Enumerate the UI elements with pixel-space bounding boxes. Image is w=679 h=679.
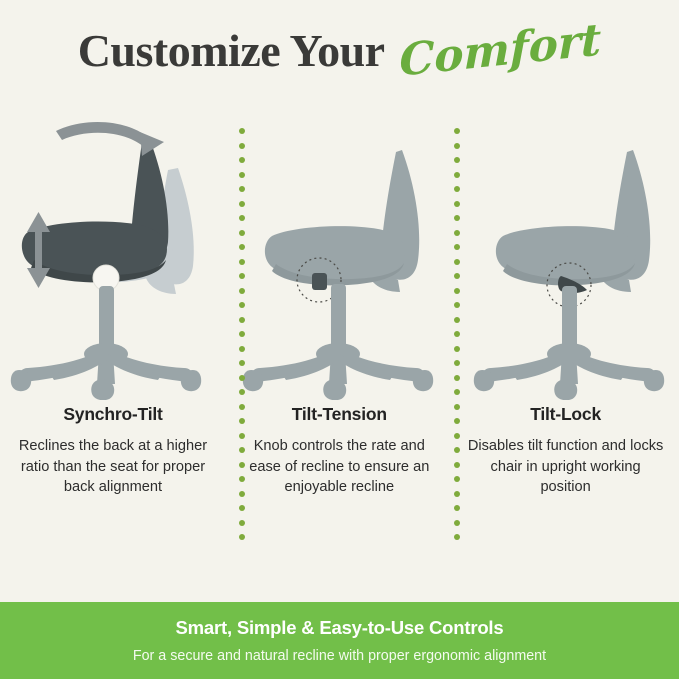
divider-dot bbox=[239, 244, 245, 250]
divider-dot bbox=[454, 433, 460, 439]
divider-dot bbox=[239, 346, 245, 352]
divider-dot bbox=[239, 157, 245, 163]
divider-dot bbox=[454, 404, 460, 410]
divider-dot bbox=[454, 186, 460, 192]
divider-dot bbox=[454, 360, 460, 366]
page-title-script: Comfort bbox=[399, 14, 601, 86]
chair-base bbox=[11, 343, 201, 400]
divider-dot bbox=[239, 172, 245, 178]
tension-knob bbox=[312, 273, 327, 290]
divider-dot bbox=[454, 259, 460, 265]
divider-dot bbox=[239, 201, 245, 207]
chair-illustration-tilt-tension bbox=[226, 108, 452, 400]
divider-dot bbox=[239, 273, 245, 279]
infographic-page: Customize Your Comfort bbox=[0, 0, 679, 679]
divider-dot bbox=[239, 375, 245, 381]
divider-dot bbox=[239, 433, 245, 439]
divider-dot bbox=[454, 520, 460, 526]
caption-body: Disables tilt function and locks chair i… bbox=[453, 436, 679, 498]
column-divider-2 bbox=[453, 128, 460, 540]
divider-dot bbox=[454, 128, 460, 134]
recline-arrow-curved bbox=[56, 122, 164, 156]
divider-dot bbox=[454, 331, 460, 337]
divider-dot bbox=[454, 302, 460, 308]
chair-base bbox=[243, 343, 433, 400]
caption-title: Tilt-Tension bbox=[226, 404, 452, 425]
caption-body: Knob controls the rate and ease of recli… bbox=[226, 436, 452, 498]
divider-dot bbox=[454, 157, 460, 163]
footer-banner: Smart, Simple & Easy-to-Use Controls For… bbox=[0, 602, 679, 679]
divider-dot bbox=[239, 534, 245, 540]
divider-dot bbox=[239, 404, 245, 410]
divider-dot bbox=[239, 288, 245, 294]
chair-body bbox=[265, 150, 419, 292]
footer-title: Smart, Simple & Easy-to-Use Controls bbox=[176, 617, 504, 639]
divider-dot bbox=[239, 418, 245, 424]
divider-dot bbox=[454, 346, 460, 352]
chair-body bbox=[495, 150, 649, 292]
divider-dot bbox=[454, 462, 460, 468]
divider-dot bbox=[239, 462, 245, 468]
divider-dot bbox=[239, 331, 245, 337]
divider-dot bbox=[239, 259, 245, 265]
caption-synchro-tilt: Synchro-Tilt Reclines the back at a high… bbox=[0, 404, 226, 498]
divider-dot bbox=[454, 418, 460, 424]
page-title-main: Customize Your bbox=[78, 24, 385, 77]
divider-dot bbox=[239, 186, 245, 192]
chair-illustration-synchro-tilt bbox=[0, 108, 226, 400]
divider-dot bbox=[454, 172, 460, 178]
divider-dot bbox=[239, 520, 245, 526]
divider-dot bbox=[454, 230, 460, 236]
divider-dot bbox=[454, 273, 460, 279]
page-title: Customize Your Comfort bbox=[0, 0, 679, 100]
divider-dot bbox=[239, 505, 245, 511]
divider-dot bbox=[239, 215, 245, 221]
feature-columns: Synchro-Tilt Reclines the back at a high… bbox=[0, 108, 679, 548]
divider-dot bbox=[239, 476, 245, 482]
divider-dot bbox=[239, 447, 245, 453]
divider-dot bbox=[239, 360, 245, 366]
caption-title: Synchro-Tilt bbox=[0, 404, 226, 425]
feature-column-tilt-tension: Tilt-Tension Knob controls the rate and … bbox=[226, 108, 452, 548]
divider-dot bbox=[239, 143, 245, 149]
caption-tilt-lock: Tilt-Lock Disables tilt function and loc… bbox=[453, 404, 679, 498]
divider-dot bbox=[454, 447, 460, 453]
divider-dot bbox=[454, 476, 460, 482]
divider-dot bbox=[239, 230, 245, 236]
divider-dot bbox=[454, 288, 460, 294]
divider-dot bbox=[454, 215, 460, 221]
column-divider-1 bbox=[238, 128, 245, 540]
feature-column-tilt-lock: Tilt-Lock Disables tilt function and loc… bbox=[453, 108, 679, 548]
caption-body: Reclines the back at a higher ratio than… bbox=[0, 436, 226, 498]
divider-dot bbox=[454, 491, 460, 497]
divider-dot bbox=[454, 317, 460, 323]
divider-dot bbox=[239, 389, 245, 395]
divider-dot bbox=[239, 491, 245, 497]
divider-dot bbox=[454, 143, 460, 149]
chair-illustration-tilt-lock bbox=[453, 108, 679, 400]
divider-dot bbox=[454, 201, 460, 207]
divider-dot bbox=[239, 128, 245, 134]
divider-dot bbox=[239, 317, 245, 323]
divider-dot bbox=[454, 244, 460, 250]
chair-base bbox=[473, 343, 663, 400]
divider-dot bbox=[454, 505, 460, 511]
caption-title: Tilt-Lock bbox=[453, 404, 679, 425]
divider-dot bbox=[454, 389, 460, 395]
divider-dot bbox=[454, 375, 460, 381]
feature-column-synchro-tilt: Synchro-Tilt Reclines the back at a high… bbox=[0, 108, 226, 548]
divider-dot bbox=[239, 302, 245, 308]
footer-subtitle: For a secure and natural recline with pr… bbox=[133, 648, 546, 664]
caption-tilt-tension: Tilt-Tension Knob controls the rate and … bbox=[226, 404, 452, 498]
divider-dot bbox=[454, 534, 460, 540]
